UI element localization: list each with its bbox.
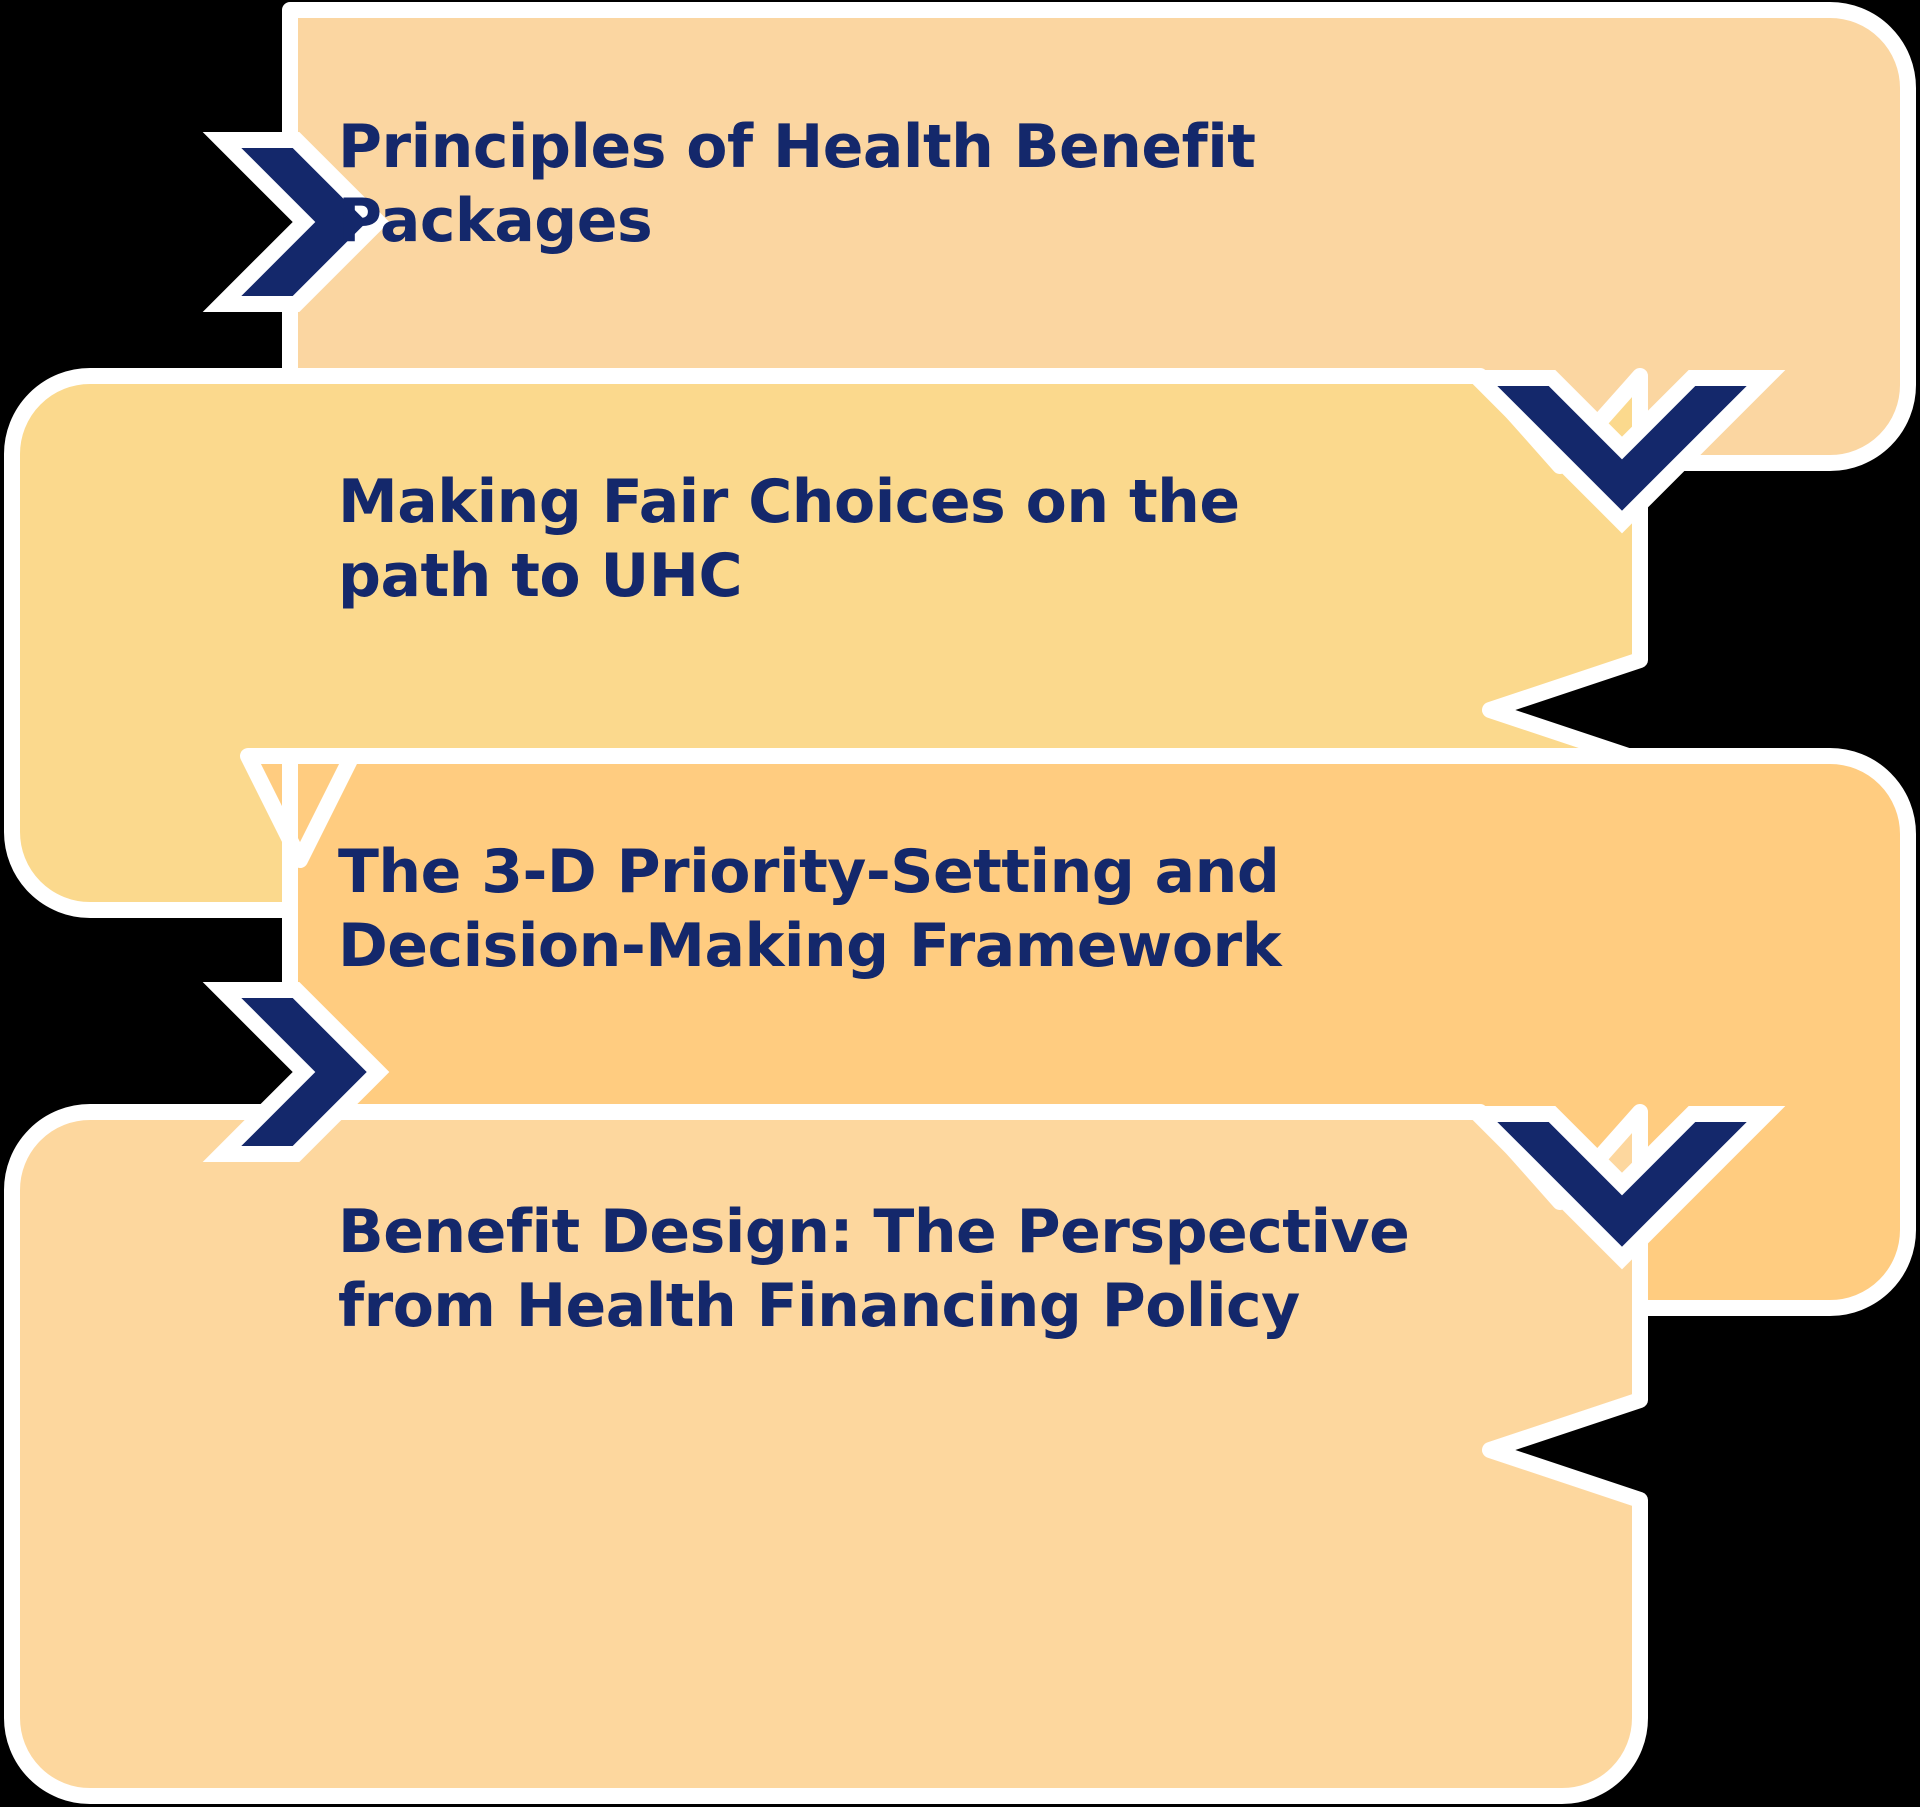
process-flow-shapes	[0, 0, 1920, 1807]
step-4-body	[12, 1112, 1640, 1796]
diagram-canvas: Principles of Health Benefit Packages Ma…	[0, 0, 1920, 1807]
step-4-shape[interactable]	[12, 1112, 1640, 1796]
